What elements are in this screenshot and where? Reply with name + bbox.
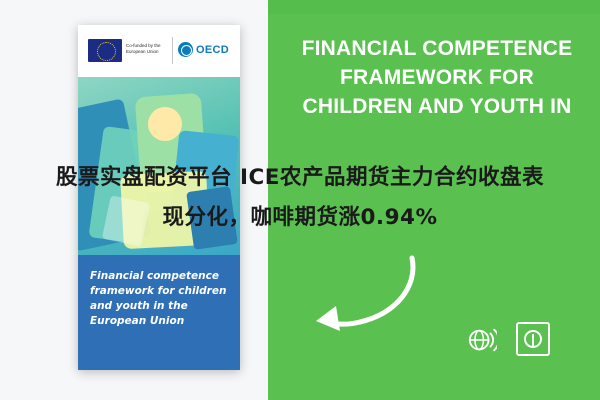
eu-stars-icon — [97, 42, 116, 61]
article-caption: 股票实盘配资平台 ICE农产品期货主力合约收盘表 现分化，咖啡期货涨0.94% — [0, 158, 600, 238]
logo-divider — [172, 37, 173, 64]
cover-title-text: Financial competence framework for child… — [90, 269, 228, 329]
artwork-sun-icon — [148, 107, 182, 141]
headline-line-3: CHILDREN AND YOUTH IN — [278, 92, 596, 121]
cover-logo-bar: Co-funded by the European Union OECD — [78, 25, 240, 77]
eu-funding-label: Co-funded by the European Union — [126, 43, 168, 55]
screenshot-canvas: Co-funded by the European Union OECD Fin… — [0, 0, 600, 400]
cover-title-panel: Financial competence framework for child… — [78, 255, 240, 370]
background-right-top-strip — [268, 0, 600, 14]
eu-flag-icon — [88, 39, 122, 62]
curved-arrow-icon — [300, 252, 420, 348]
headline-line-2: FRAMEWORK FOR — [340, 66, 534, 89]
caption-line-2: 现分化，咖啡期货涨0.94% — [0, 198, 600, 238]
globe-network-icon — [467, 325, 497, 355]
headline-line-1: FINANCIAL COMPETENCE — [302, 37, 573, 60]
badge-inner-ring — [524, 330, 542, 348]
oecd-logo: OECD — [178, 42, 229, 57]
oecd-mark-icon — [178, 42, 193, 57]
poster-headline: FINANCIAL COMPETENCE FRAMEWORK FOR CHILD… — [278, 34, 596, 121]
caption-line-1: 股票实盘配资平台 ICE农产品期货主力合约收盘表 — [0, 158, 600, 198]
oecd-logo-text: OECD — [196, 44, 229, 56]
certificate-badge-icon — [516, 322, 550, 356]
